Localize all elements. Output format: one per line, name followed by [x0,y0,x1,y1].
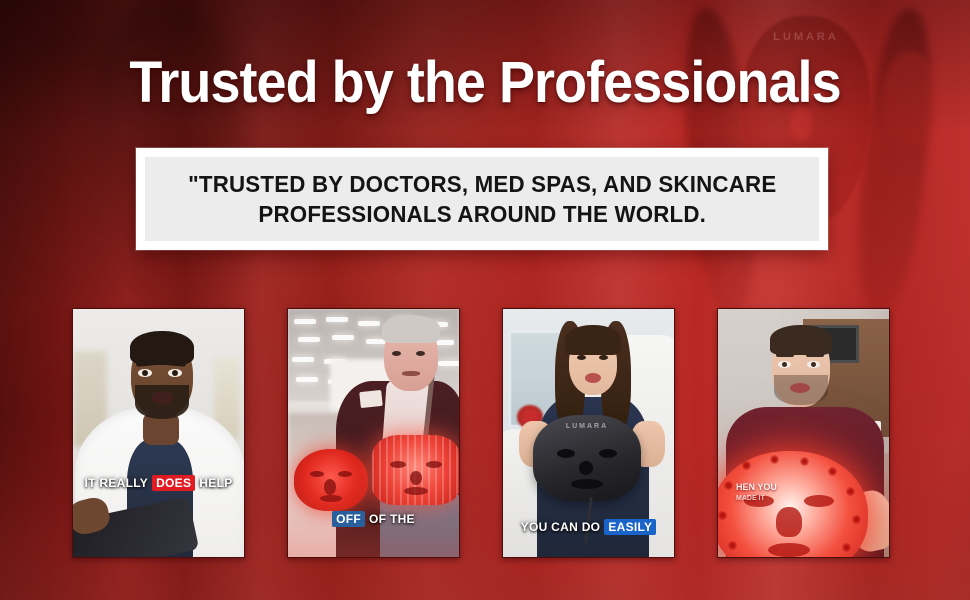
thumb3-caption-pre: YOU CAN DO [521,520,601,534]
thumb4-eye-left [778,361,791,368]
page-title: Trusted by the Professionals [34,54,936,112]
thumb4-overlay-line-2: MADE IT [736,494,777,503]
thumb4-overlay-line-1: HEN YOU [736,482,777,494]
thumbnail-doctor-white-coat[interactable]: IT REALLY DOES HELP [72,308,245,558]
thumb4-mouth [790,383,810,393]
quote-box: "TRUSTED BY DOCTORS, MED SPAS, AND SKINC… [136,148,828,250]
thumb3-dark-led-mask: LUMARA [533,415,641,501]
thumb4-eyebrow-right [806,353,824,357]
thumb1-hair [130,331,194,365]
thumb2-caption: OFF OF THE [288,511,459,527]
thumb4-hair [770,325,832,355]
thumb2-eye-left [392,351,401,356]
thumb3-eye-left [577,355,586,360]
thumb2-hair [382,315,440,343]
thumb2-name-badge [359,390,383,408]
thumb3-eye-right [599,355,608,360]
thumb2-caption-highlight: OFF [332,511,365,527]
thumb4-scene: HEN YOU MADE IT [718,309,889,557]
thumb3-hair-top [565,325,621,355]
thumb2-mouth [402,371,420,376]
thumb3-caption-highlight: EASILY [604,519,656,535]
thumb1-scene [73,309,244,557]
thumb1-eye-right [168,369,182,377]
thumb1-caption-pre: IT REALLY [84,476,148,490]
promo-banner: LUMARA Trusted by the Professionals "TRU… [0,0,970,600]
thumb2-eye-right [416,351,425,356]
thumb3-mouth [585,373,601,383]
thumb3-caption: YOU CAN DO EASILY [503,519,674,535]
thumb1-caption: IT REALLY DOES HELP [73,475,244,491]
thumb1-mouth [151,391,173,404]
thumbnail-clinician-dark-mask[interactable]: LUMARA YOU CAN DO EASILY [502,308,675,558]
quote-line-1: "TRUSTED BY DOCTORS, MED SPAS, AND SKINC… [188,171,776,197]
thumbnail-strip: IT REALLY DOES HELP [72,308,890,558]
thumb2-caption-post: OF THE [369,512,415,526]
thumb4-eyebrow-left [776,353,794,357]
thumbnail-tradeshow-two-masks[interactable]: OFF OF THE [287,308,460,558]
thumb4-overlay-text: HEN YOU MADE IT [736,482,777,503]
thumb4-eye-right [807,361,820,368]
thumb1-caption-post: HELP [199,476,232,490]
quote-text: "TRUSTED BY DOCTORS, MED SPAS, AND SKINC… [174,169,789,230]
thumbnail-man-glowing-mask[interactable]: HEN YOU MADE IT [717,308,890,558]
thumb1-eye-left [138,369,152,377]
quote-panel: "TRUSTED BY DOCTORS, MED SPAS, AND SKINC… [145,157,819,241]
thumb1-caption-highlight: DOES [152,475,195,491]
quote-line-2: PROFESSIONALS AROUND THE WORLD. [258,201,706,227]
thumb3-mask-brand-label: LUMARA [533,423,641,430]
